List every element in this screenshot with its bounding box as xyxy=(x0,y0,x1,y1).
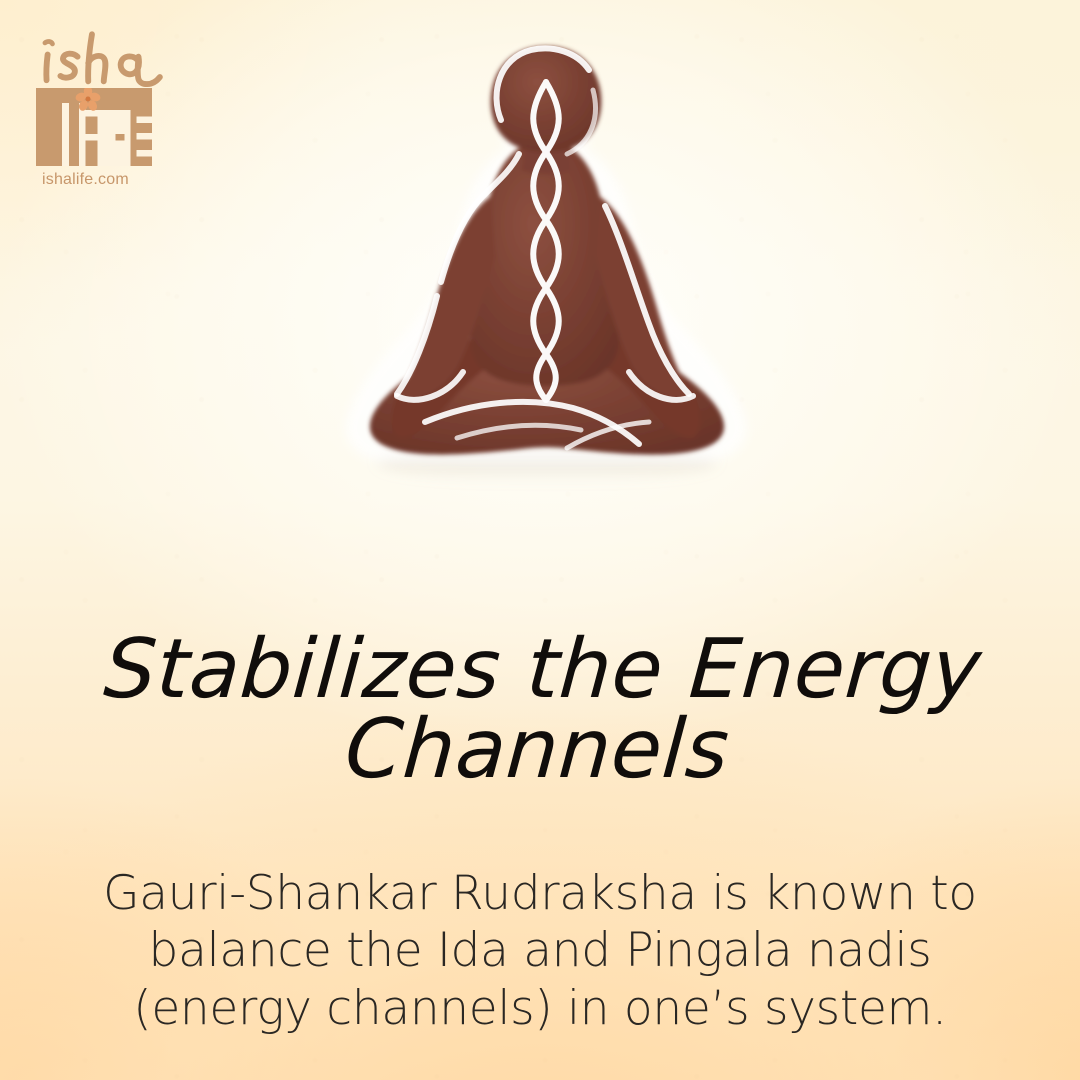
poster-canvas: ishalife.com xyxy=(0,0,1080,1080)
figure-silhouette xyxy=(370,46,724,455)
body-copy: Gauri-Shankar Rudraksha is known to bala… xyxy=(75,865,1005,1037)
headline-line-2: Channels xyxy=(54,710,1020,790)
life-block-wordmark xyxy=(36,88,152,166)
headline: Stabilizes the Energy Channels xyxy=(0,630,1080,791)
meditating-figure-illustration xyxy=(305,24,775,494)
isha-script-wordmark xyxy=(38,30,166,92)
isha-life-logo[interactable]: ishalife.com xyxy=(36,30,164,189)
logo-website-url[interactable]: ishalife.com xyxy=(42,171,164,189)
